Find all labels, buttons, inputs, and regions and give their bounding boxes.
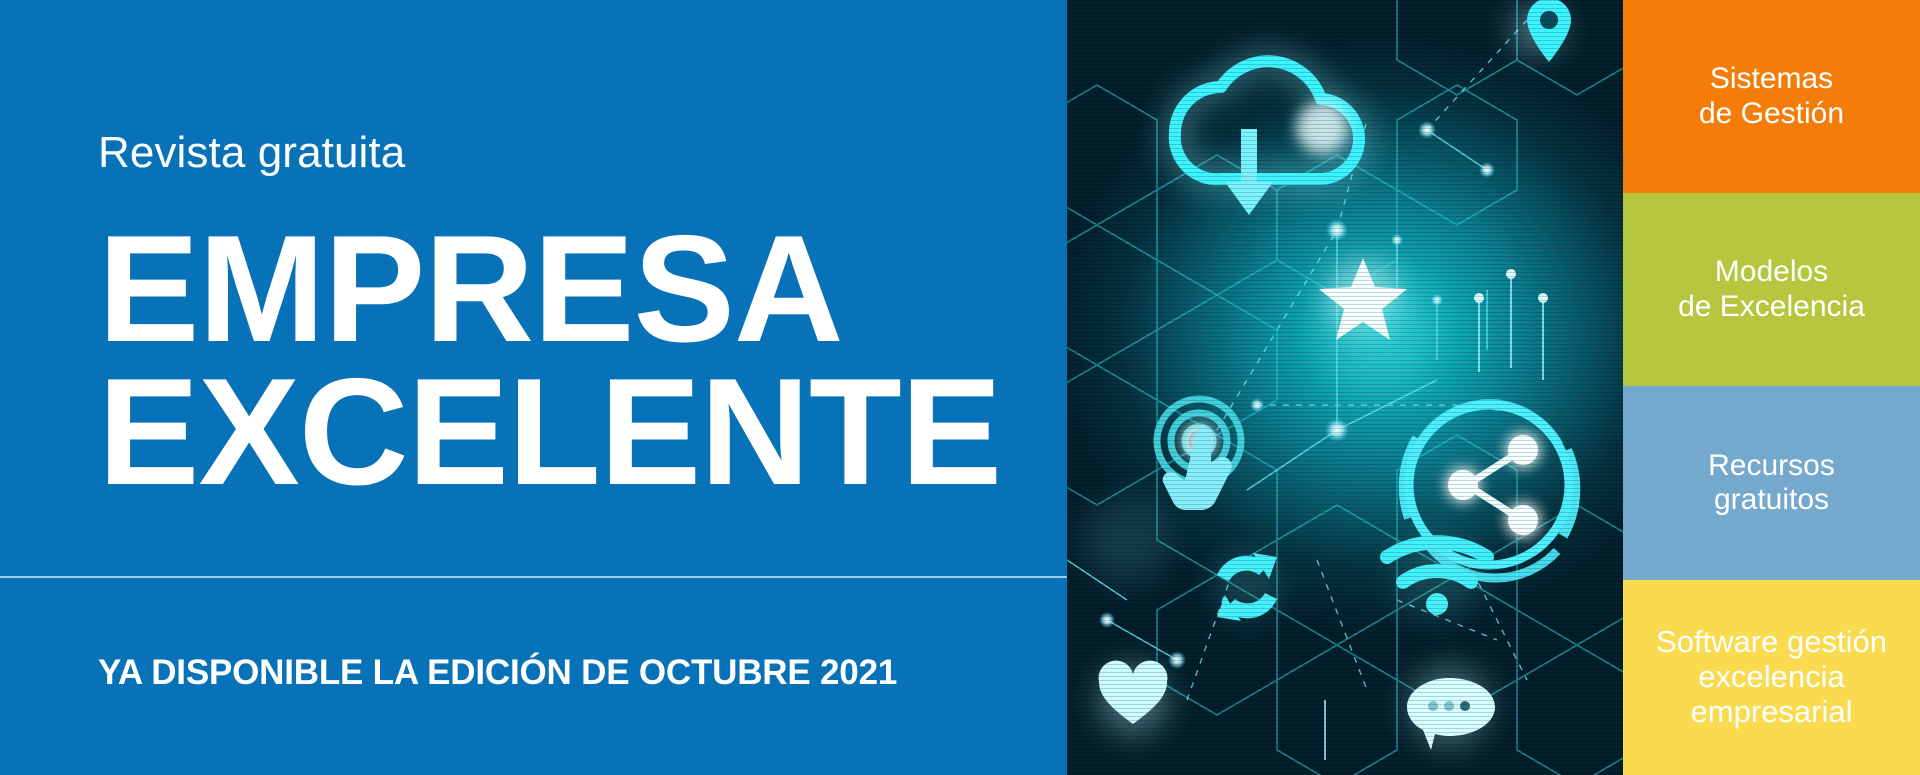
heart-icon: [1099, 661, 1168, 734]
promo-title: EMPRESA EXCELENTE: [98, 218, 1001, 504]
sync-refresh-icon: [1213, 553, 1281, 621]
tech-network-image: [1067, 0, 1623, 775]
promo-panel: Revista gratuita EMPRESA EXCELENTE YA DI…: [0, 0, 1067, 775]
chat-bubble-icon: [1407, 666, 1495, 750]
tech-network-graphic: [1067, 0, 1623, 775]
category-tile-recursos-gratuitos[interactable]: Recursos gratuitos: [1623, 386, 1920, 580]
category-rail: Sistemas de Gestión Modelos de Excelenci…: [1623, 0, 1920, 775]
map-pin-icon: [1513, 0, 1571, 62]
promo-subline: YA DISPONIBLE LA EDICIÓN DE OCTUBRE 2021: [98, 655, 897, 690]
category-tile-sistemas-de-gestion[interactable]: Sistemas de Gestión: [1623, 0, 1920, 193]
cloud-download-icon: [1175, 61, 1359, 215]
magazine-promo-banner: Revista gratuita EMPRESA EXCELENTE YA DI…: [0, 0, 1920, 775]
promo-kicker: Revista gratuita: [98, 131, 405, 175]
category-tile-modelos-de-excelencia[interactable]: Modelos de Excelencia: [1623, 193, 1920, 386]
wifi-icon: [1387, 534, 1487, 622]
click-hand-icon: [1157, 399, 1241, 510]
category-tile-software-gestion-excelencia[interactable]: Software gestión excelencia empresarial: [1623, 580, 1920, 775]
promo-divider: [0, 576, 1067, 578]
